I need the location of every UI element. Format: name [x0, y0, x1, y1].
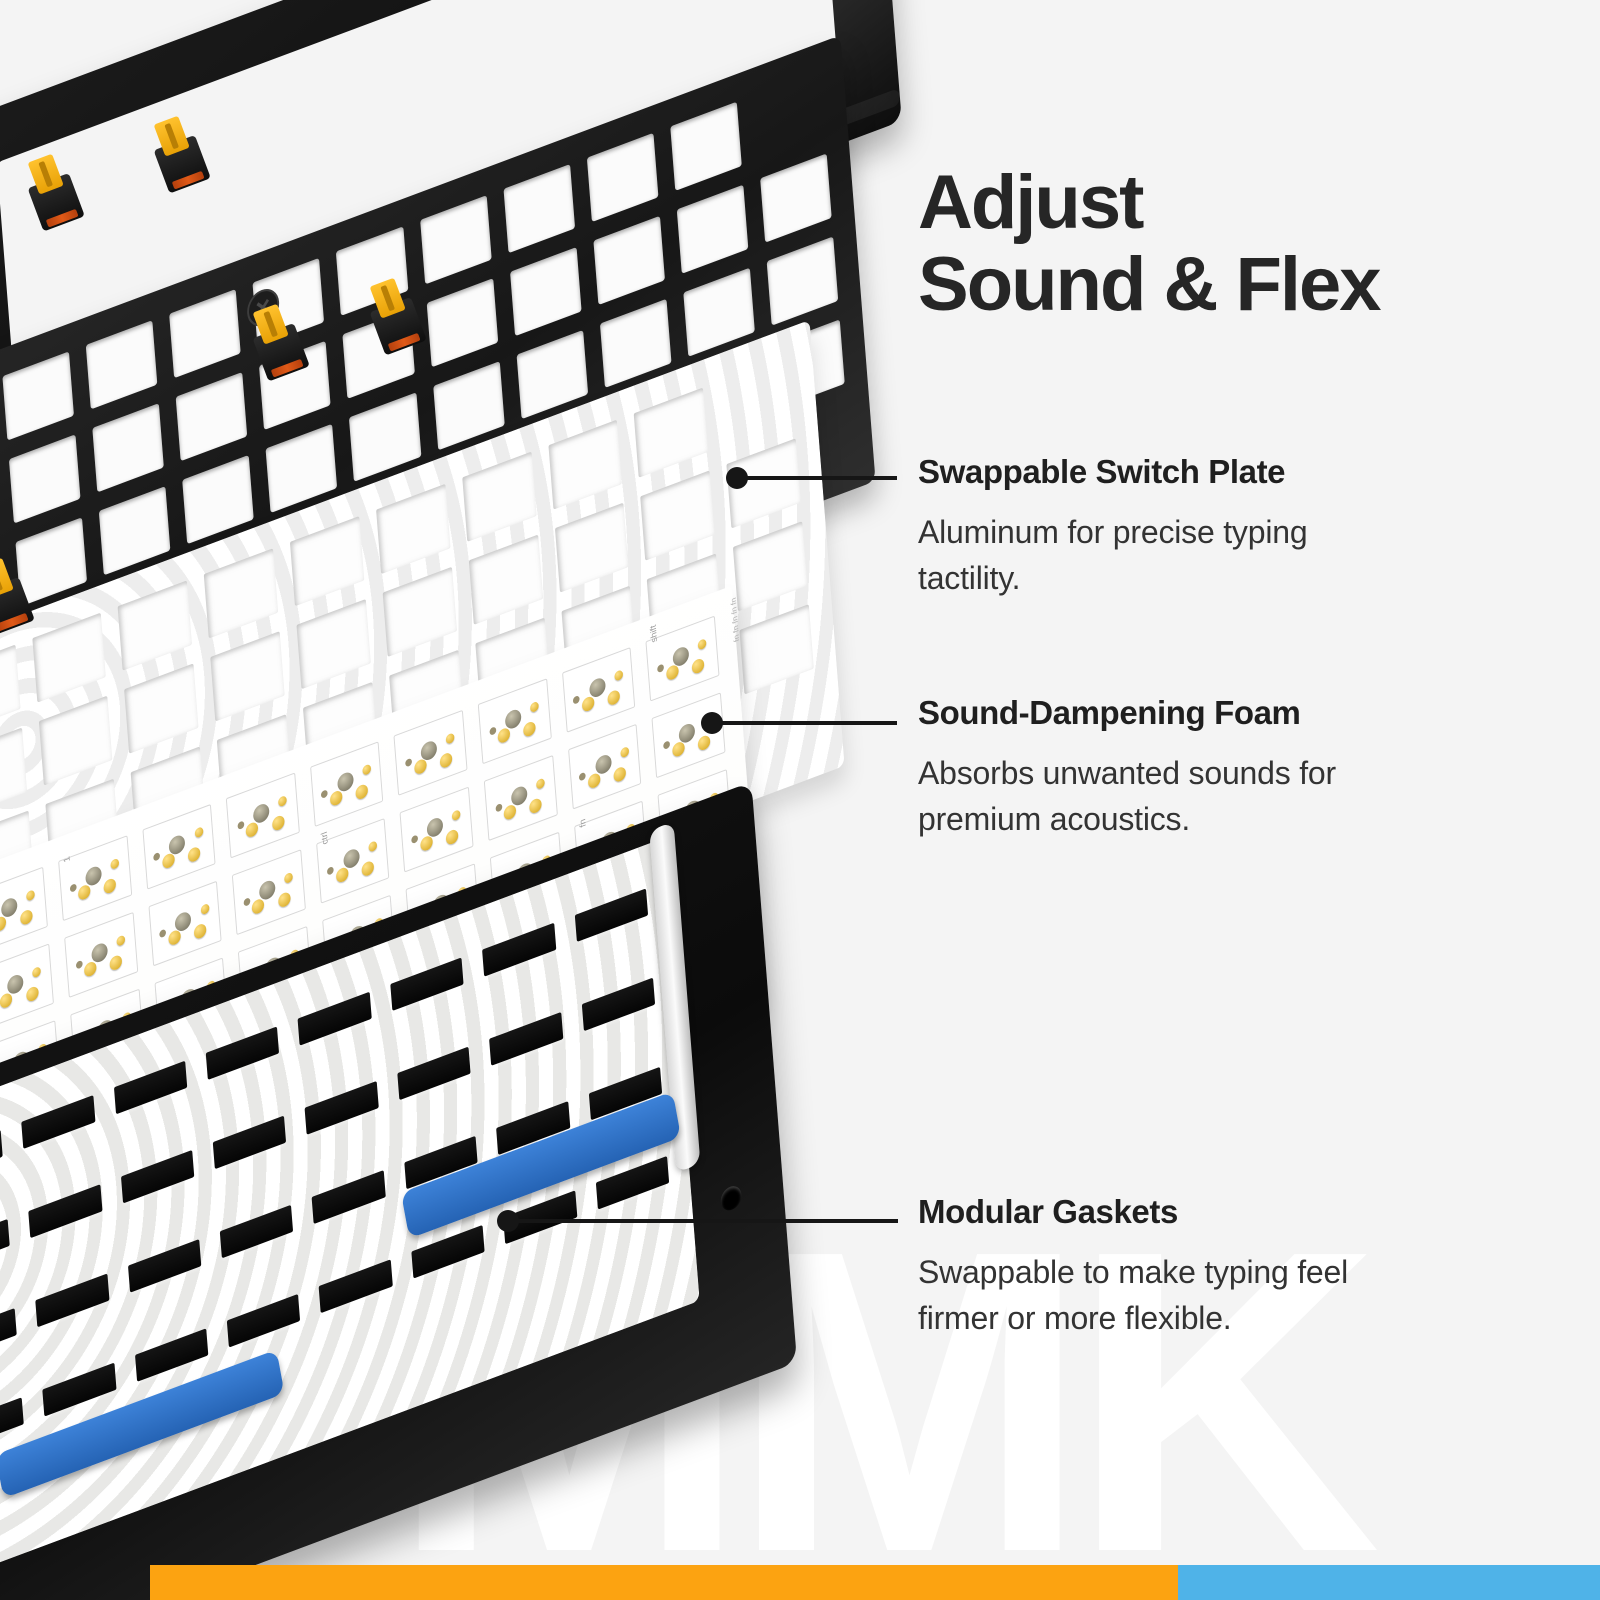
- callout-title: Swappable Switch Plate: [918, 452, 1538, 492]
- pcb-hole: [7, 972, 24, 996]
- callout-body: Swappable to make typing feel firmer or …: [918, 1250, 1388, 1341]
- pcb-pad: [116, 934, 125, 946]
- pcb-pad: [19, 908, 32, 926]
- case-slot-cell: [0, 1397, 24, 1451]
- pcb-dot: [411, 834, 418, 844]
- leader-dot-icon: [726, 467, 748, 489]
- foam-cell: [0, 728, 27, 818]
- case-slot-cell: [213, 1115, 287, 1169]
- pcb-switch-footprint: [394, 710, 468, 796]
- plate-cell: [503, 164, 575, 253]
- pcb-pad: [446, 732, 455, 744]
- page-title: Adjust Sound & Flex: [918, 162, 1558, 326]
- pcb-pad: [0, 915, 7, 933]
- pcb-pad: [78, 884, 91, 902]
- plate-cell: [426, 278, 498, 367]
- case-slot-cell: [489, 1012, 563, 1066]
- foam-cell: [634, 387, 708, 477]
- foam-cell: [32, 613, 106, 703]
- pcb-pad: [162, 852, 175, 870]
- pcb-dot: [237, 820, 244, 830]
- pcb-hole: [259, 878, 276, 902]
- case-slot-cell: [0, 1130, 3, 1184]
- pcb-pad: [246, 821, 259, 839]
- pcb-key-legend: 1: [62, 855, 72, 864]
- case-slot-cell: [0, 1219, 10, 1273]
- case-slot-cell: [0, 1308, 17, 1362]
- case-slot-cell: [206, 1026, 280, 1080]
- plate-cell: [9, 434, 81, 523]
- leader-dot-icon: [497, 1210, 519, 1232]
- plate-cell: [2, 351, 74, 440]
- case-slot-cell: [135, 1328, 209, 1382]
- pcb-dot: [69, 883, 76, 893]
- leader-line-gaskets: [508, 1219, 898, 1223]
- pcb-dot: [153, 852, 160, 862]
- pcb-pad: [452, 809, 461, 821]
- pcb-dot: [75, 960, 82, 970]
- pcb-dot: [663, 740, 670, 750]
- infographic-canvas: MMK: [0, 0, 1600, 1600]
- case-slot-cell: [128, 1239, 202, 1293]
- case-screw-hole: [720, 1183, 742, 1214]
- case-slot-cell: [21, 1095, 95, 1149]
- plate-cell: [86, 320, 158, 409]
- pcb-pad: [420, 835, 433, 853]
- pcb-key-legend: ctrl: [319, 830, 329, 846]
- plate-cell: [92, 403, 164, 492]
- foam-cell: [118, 580, 192, 670]
- foam-cell: [641, 470, 715, 560]
- pcb-pad: [588, 772, 601, 790]
- pcb-pad: [32, 966, 41, 978]
- pcb-pad: [671, 741, 684, 759]
- pcb-pad: [361, 859, 374, 877]
- pcb-switch-footprint: [310, 741, 384, 827]
- pcb-pad: [368, 840, 377, 852]
- plate-cell: [510, 247, 582, 336]
- foam-cell: [548, 420, 622, 510]
- leader-dot-icon: [701, 712, 723, 734]
- pcb-hole: [510, 784, 527, 808]
- pcb-hole: [253, 801, 270, 825]
- case-slot-cell: [312, 1170, 386, 1224]
- pcb-pad: [200, 903, 209, 915]
- case-slot-cell: [319, 1259, 393, 1313]
- pcb-pad: [691, 657, 704, 675]
- case-slot-cell: [42, 1363, 116, 1417]
- case-slot-cell: [390, 957, 464, 1011]
- foam-cell: [555, 503, 629, 593]
- pcb-pad: [697, 734, 710, 752]
- foam-cell: [720, 355, 794, 445]
- pcb-switch-footprint: [226, 773, 300, 859]
- bar-gap: [0, 1565, 150, 1600]
- pcb-pad: [277, 890, 290, 908]
- foam-cell: [383, 567, 457, 657]
- pcb-switch-footprint: [142, 804, 216, 890]
- pcb-pad: [613, 765, 626, 783]
- pcb-pad: [330, 790, 343, 808]
- pcb-pad: [414, 758, 427, 776]
- headline-line-2: Sound & Flex: [918, 242, 1380, 327]
- plate-cell: [587, 133, 659, 222]
- case-slot-cell: [482, 923, 556, 977]
- case-slot-cell: [227, 1294, 301, 1348]
- bottom-accent-bar: [0, 1565, 1600, 1600]
- pcb-switch-footprint: [484, 755, 558, 841]
- callout-body: Absorbs unwanted sounds for premium acou…: [918, 751, 1388, 842]
- pcb-key-legend: fn: [577, 818, 587, 829]
- pcb-pad: [187, 845, 200, 863]
- bar-blue-segment: [1178, 1565, 1600, 1600]
- pcb-pad: [109, 953, 122, 971]
- leader-line-switch-plate: [737, 476, 897, 480]
- pcb-switch-footprint: [400, 786, 474, 872]
- bar-orange-segment: [150, 1565, 1178, 1600]
- pcb-switch-footprint: shift: [646, 616, 720, 702]
- foam-cell: [0, 645, 20, 735]
- pcb-dot: [579, 771, 586, 781]
- callout-body: Aluminum for precise typing tactility.: [918, 510, 1388, 601]
- pcb-dot: [573, 695, 580, 705]
- pcb-pad: [620, 746, 629, 758]
- pcb-hole: [1, 896, 18, 920]
- pcb-switch-footprint: [652, 692, 726, 778]
- pcb-pad: [614, 669, 623, 681]
- pcb-dot: [405, 757, 412, 767]
- pcb-switch-footprint: [232, 849, 306, 935]
- case-slot-cell: [220, 1205, 294, 1259]
- pcb-switch-footprint: [64, 912, 138, 998]
- pcb-dot: [489, 726, 496, 736]
- pcb-pad: [523, 720, 536, 738]
- pcb-pad: [529, 796, 542, 814]
- pcb-pad: [336, 866, 349, 884]
- leader-line-foam: [712, 721, 897, 725]
- case-slot-cell: [305, 1081, 379, 1135]
- foam-cell: [733, 521, 807, 611]
- callout-swappable-switch-plate: Swappable Switch Plate Aluminum for prec…: [918, 452, 1538, 601]
- pcb-pad: [698, 638, 707, 650]
- pcb-pad: [530, 701, 539, 713]
- pcb-pad: [362, 763, 371, 775]
- pcb-pad: [0, 992, 13, 1010]
- pcb-switch-footprint: [478, 678, 552, 764]
- case-slot-cell: [121, 1150, 195, 1204]
- pcb-pad: [168, 929, 181, 947]
- pcb-key-legend: shift: [649, 623, 660, 644]
- pcb-switch-footprint: ctrl: [316, 818, 390, 904]
- foam-cell: [746, 687, 820, 777]
- pcb-pad: [278, 795, 287, 807]
- callout-title: Modular Gaskets: [918, 1192, 1538, 1232]
- foam-cell: [469, 535, 543, 625]
- pcb-pad: [665, 664, 678, 682]
- plate-cell: [169, 289, 241, 378]
- pcb-pad: [252, 898, 265, 916]
- pcb-dot: [321, 789, 328, 799]
- pcb-pad: [445, 828, 458, 846]
- pcb-pad: [284, 871, 293, 883]
- plate-cell: [593, 216, 665, 305]
- foam-cell: [211, 631, 285, 721]
- pcb-pad: [607, 688, 620, 706]
- keyboard-exploded-view: GLORIOUS fn fn fn fn fn 1shiftctrlaltfn<…: [0, 0, 920, 1600]
- pcb-pad: [271, 814, 284, 832]
- foam-cell: [376, 484, 450, 574]
- foam-cell: [39, 695, 113, 785]
- pcb-pad: [504, 804, 517, 822]
- callout-sound-dampening-foam: Sound-Dampening Foam Absorbs unwanted so…: [918, 693, 1538, 842]
- pcb-switch-footprint: 1: [58, 835, 132, 921]
- pcb-pad: [26, 889, 35, 901]
- pcb-hole: [504, 707, 521, 731]
- pcb-dot: [657, 663, 664, 673]
- plate-cell: [176, 372, 248, 461]
- case-slot-cell: [114, 1061, 188, 1115]
- pcb-pad: [498, 727, 511, 745]
- pcb-pad: [536, 777, 545, 789]
- pcb-dot: [495, 803, 502, 813]
- pcb-pad: [103, 876, 116, 894]
- pcb-pad: [25, 985, 38, 1003]
- case-slot-cell: [581, 978, 655, 1032]
- pcb-pad: [110, 857, 119, 869]
- pcb-switch-footprint: [0, 867, 48, 953]
- plate-cell: [760, 154, 832, 243]
- pcb-switch-footprint: [0, 943, 54, 1029]
- case-slot-cell: [574, 888, 648, 942]
- foam-cell: [125, 663, 199, 753]
- foam-cell: [297, 599, 371, 689]
- callout-title: Sound-Dampening Foam: [918, 693, 1538, 733]
- foam-cell: [204, 548, 278, 638]
- case-slot-cell: [35, 1274, 109, 1328]
- foam-cell: [740, 604, 814, 694]
- pcb-pad: [581, 695, 594, 713]
- pcb-switch-footprint: [562, 647, 636, 733]
- plate-cell: [420, 195, 492, 284]
- plate-cell: [670, 102, 742, 191]
- pcb-pad: [193, 922, 206, 940]
- pcb-pad: [84, 960, 97, 978]
- pcb-dot: [159, 928, 166, 938]
- plate-cell: [677, 185, 749, 274]
- headline-line-1: Adjust: [918, 160, 1142, 245]
- case-slot-cell: [298, 992, 372, 1046]
- pcb-dot: [327, 866, 334, 876]
- pcb-pad: [194, 826, 203, 838]
- callout-modular-gaskets: Modular Gaskets Swappable to make typing…: [918, 1192, 1538, 1341]
- case-slot-cell: [28, 1184, 102, 1238]
- pcb-pad: [439, 751, 452, 769]
- foam-cell: [462, 452, 536, 542]
- pcb-pad: [355, 782, 368, 800]
- case-slot-cell: [397, 1047, 471, 1101]
- plate-cell: [754, 71, 826, 160]
- pcb-dot: [243, 897, 250, 907]
- pcb-switch-footprint: [568, 724, 642, 810]
- pcb-switch-footprint: [148, 881, 222, 967]
- plate-cell: [767, 236, 839, 325]
- foam-cell: [290, 516, 364, 606]
